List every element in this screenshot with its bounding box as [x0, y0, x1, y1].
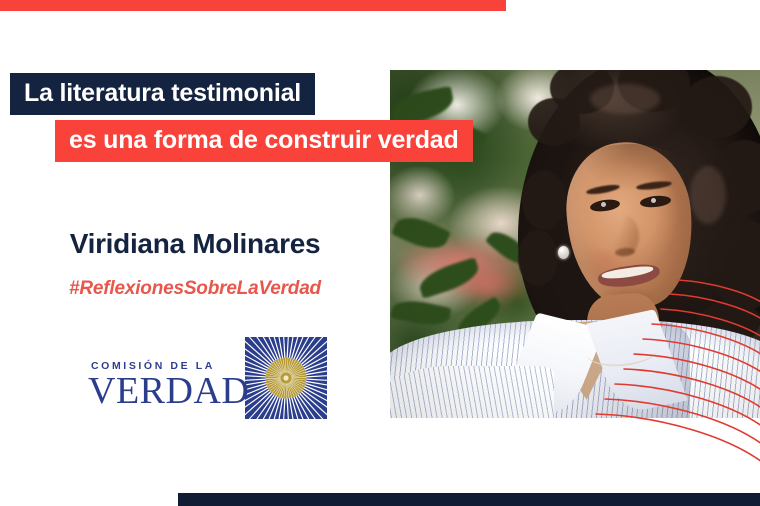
eye-highlight-right	[651, 198, 656, 203]
shoulder-arm	[390, 366, 554, 418]
hair-highlight	[690, 166, 726, 224]
top-accent-bar	[0, 0, 506, 11]
bottom-accent-bar	[178, 493, 760, 506]
headline-line-2: es una forma de construir verdad	[55, 120, 473, 162]
sunburst-icon	[245, 337, 327, 419]
hair-curl	[518, 230, 558, 286]
hair-highlight	[590, 84, 660, 114]
logo-wordmark: COMISIÓN DE LA VERDAD	[88, 347, 249, 409]
campaign-hashtag: #ReflexionesSobreLaVerdad	[0, 278, 390, 300]
eye-highlight-left	[601, 202, 606, 207]
speaker-name: Viridiana Molinares	[0, 228, 390, 260]
headline-line-1: La literatura testimonial	[10, 73, 315, 115]
comision-verdad-logo: COMISIÓN DE LA VERDAD	[88, 333, 304, 423]
earring	[558, 246, 569, 259]
hair-curl	[522, 170, 566, 230]
logo-main-line: VERDAD	[88, 373, 249, 409]
social-card: La literatura testimonial es una forma d…	[0, 0, 760, 506]
hair-curl	[682, 76, 752, 138]
